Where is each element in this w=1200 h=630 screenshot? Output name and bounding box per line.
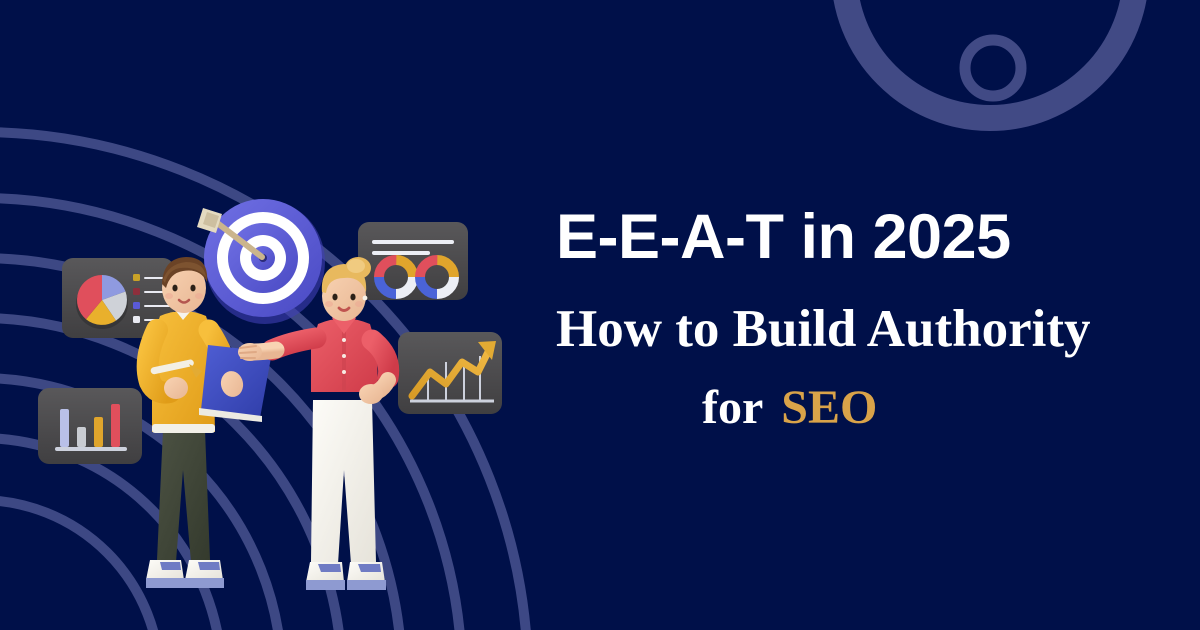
female-sneakers: [306, 562, 386, 590]
hero-copy: E-E-A-T in 2025 How to Build Authority f…: [556, 206, 1156, 432]
bar-chart-card: [38, 388, 142, 464]
trend-chart-card: [398, 332, 502, 414]
dartboard-target: [197, 199, 325, 324]
hero-banner: E-E-A-T in 2025 How to Build Authority f…: [0, 0, 1200, 630]
large-ring-decoration: [844, 0, 1136, 118]
third-line-accent: SEO: [781, 381, 877, 434]
analytics-illustration: [0, 0, 560, 630]
female-head: [322, 257, 371, 321]
male-sneakers: [146, 560, 224, 588]
page-title: E-E-A-T in 2025: [556, 206, 1156, 269]
third-line-prefix: for: [702, 381, 763, 434]
male-head: [162, 257, 207, 313]
pie-chart: [76, 275, 128, 329]
page-subtitle: How to Build Authority: [556, 303, 1156, 356]
page-subtitle-line-3: forSEO: [556, 384, 1156, 432]
small-ring-decoration: [965, 40, 1021, 96]
donut-chart-card: [358, 222, 468, 300]
